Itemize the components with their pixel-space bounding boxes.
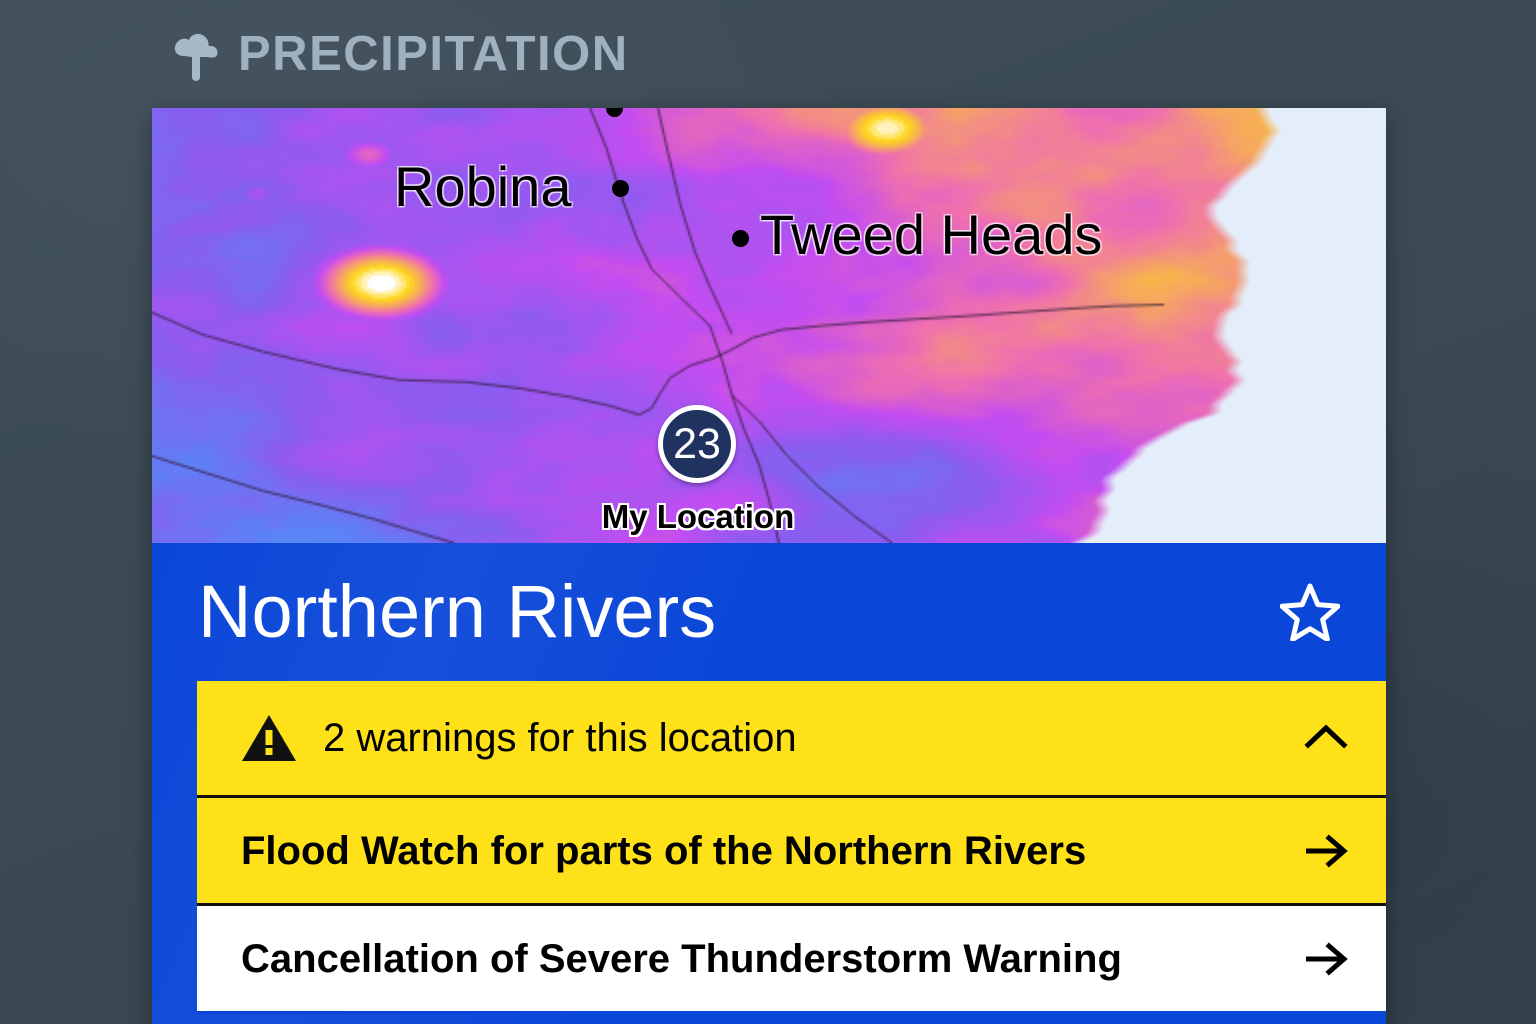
precipitation-map[interactable]: Robina Tweed Heads 23 My Location (152, 108, 1386, 543)
warnings-summary-row[interactable]: 2 warnings for this location (197, 681, 1386, 798)
location-name: Northern Rivers (198, 575, 1280, 649)
warning-item-flood-watch[interactable]: Flood Watch for parts of the Northern Ri… (197, 795, 1386, 906)
my-location-temperature: 23 (673, 423, 721, 466)
arrow-right-icon[interactable] (1300, 831, 1352, 871)
location-title-bar: Northern Rivers (152, 543, 1386, 681)
warning-item-label: Flood Watch for parts of the Northern Ri… (241, 829, 1300, 873)
map-labels-overlay: Robina Tweed Heads 23 My Location (152, 108, 1386, 543)
chevron-up-icon[interactable] (1300, 718, 1352, 758)
place-dot-tweed-heads (732, 230, 749, 247)
header: PRECIPITATION (172, 18, 629, 90)
star-outline-icon[interactable] (1280, 583, 1340, 641)
precipitation-cloud-drop-icon (172, 31, 220, 81)
arrow-right-icon[interactable] (1300, 939, 1352, 979)
page-title: PRECIPITATION (238, 30, 629, 79)
my-location-marker[interactable]: 23 (658, 405, 736, 483)
location-info-panel: Northern Rivers 2 warnings for this loca… (152, 543, 1386, 1024)
warning-item-thunderstorm-cancellation[interactable]: Cancellation of Severe Thunderstorm Warn… (197, 903, 1386, 1014)
my-location-label: My Location (588, 498, 808, 536)
place-dot-robina (612, 180, 629, 197)
warning-item-label: Cancellation of Severe Thunderstorm Warn… (241, 937, 1300, 981)
warning-triangle-icon (241, 713, 297, 763)
warnings-summary-label: 2 warnings for this location (323, 716, 1300, 760)
place-dot (606, 108, 623, 117)
place-label-tweed-heads: Tweed Heads (760, 202, 1102, 267)
warnings-list: 2 warnings for this location Flood Watch… (197, 681, 1386, 1014)
weather-card: Robina Tweed Heads 23 My Location Northe… (152, 108, 1386, 1024)
place-label-robina: Robina (394, 154, 571, 219)
